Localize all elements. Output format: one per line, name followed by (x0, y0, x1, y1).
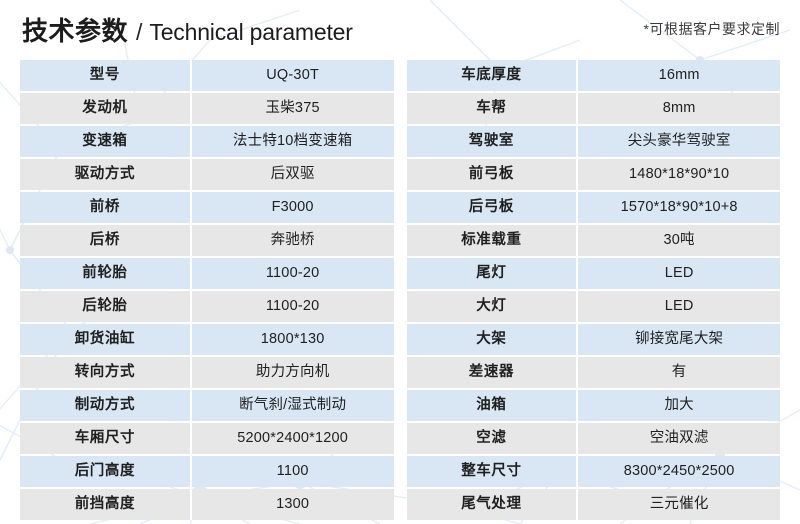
spec-value: 后双驱 (192, 159, 394, 190)
table-row: 制动方式断气刹/湿式制动 (20, 390, 394, 421)
spec-label: 前弓板 (407, 159, 579, 190)
spec-label: 油箱 (407, 390, 579, 421)
spec-value: 1300 (192, 489, 394, 520)
table-row: 整车尺寸8300*2450*2500 (407, 456, 781, 487)
spec-value: LED (578, 291, 780, 322)
spec-value: 8300*2450*2500 (578, 456, 780, 487)
table-row: 前弓板1480*18*90*10 (407, 159, 781, 190)
spec-value: UQ-30T (192, 60, 394, 91)
spec-value: 5200*2400*1200 (192, 423, 394, 454)
spec-value: 加大 (578, 390, 780, 421)
spec-sheet-page: 技术参数 / Technical parameter *可根据客户要求定制 型号… (0, 0, 800, 524)
spec-label: 差速器 (407, 357, 579, 388)
spec-value: 尖头豪华驾驶室 (578, 126, 780, 157)
page-header: 技术参数 / Technical parameter *可根据客户要求定制 (0, 0, 800, 58)
spec-value: 铆接宽尾大架 (578, 324, 780, 355)
spec-label: 前挡高度 (20, 489, 192, 520)
spec-value: 1480*18*90*10 (578, 159, 780, 190)
spec-label: 制动方式 (20, 390, 192, 421)
spec-label: 驾驶室 (407, 126, 579, 157)
spec-label: 车底厚度 (407, 60, 579, 91)
table-row: 大灯LED (407, 291, 781, 322)
spec-label: 前轮胎 (20, 258, 192, 289)
table-row: 大架铆接宽尾大架 (407, 324, 781, 355)
spec-value: 断气刹/湿式制动 (192, 390, 394, 421)
spec-label: 前桥 (20, 192, 192, 223)
spec-value: 1800*130 (192, 324, 394, 355)
page-title: 技术参数 / Technical parameter (0, 11, 353, 48)
table-row: 驱动方式后双驱 (20, 159, 394, 190)
spec-value: F3000 (192, 192, 394, 223)
table-row: 前挡高度1300 (20, 489, 394, 520)
table-row: 后轮胎1100-20 (20, 291, 394, 322)
table-row: 车底厚度16mm (407, 60, 781, 91)
spec-value: 1100 (192, 456, 394, 487)
spec-label: 大架 (407, 324, 579, 355)
spec-label: 空滤 (407, 423, 579, 454)
table-row: 转向方式助力方向机 (20, 357, 394, 388)
spec-value: 有 (578, 357, 780, 388)
table-row: 前桥F3000 (20, 192, 394, 223)
spec-value: 玉柴375 (192, 93, 394, 124)
spec-value: 1100-20 (192, 258, 394, 289)
spec-value: 助力方向机 (192, 357, 394, 388)
spec-value: 1100-20 (192, 291, 394, 322)
spec-value: 30吨 (578, 225, 780, 256)
table-row: 型号UQ-30T (20, 60, 394, 91)
spec-value: 16mm (578, 60, 780, 91)
table-row: 车帮8mm (407, 93, 781, 124)
spec-label: 后门高度 (20, 456, 192, 487)
spec-label: 尾灯 (407, 258, 579, 289)
spec-value: 8mm (578, 93, 780, 124)
spec-label: 后桥 (20, 225, 192, 256)
spec-label: 尾气处理 (407, 489, 579, 520)
spec-label: 转向方式 (20, 357, 192, 388)
table-row: 差速器有 (407, 357, 781, 388)
spec-value: 奔驰桥 (192, 225, 394, 256)
table-row: 后门高度1100 (20, 456, 394, 487)
table-row: 后桥奔驰桥 (20, 225, 394, 256)
spec-label: 发动机 (20, 93, 192, 124)
spec-value: 1570*18*90*10+8 (578, 192, 780, 223)
spec-value: LED (578, 258, 780, 289)
table-row: 尾灯LED (407, 258, 781, 289)
spec-label: 卸货油缸 (20, 324, 192, 355)
spec-label: 整车尺寸 (407, 456, 579, 487)
page-title-en: Technical parameter (149, 19, 352, 46)
spec-label: 大灯 (407, 291, 579, 322)
table-row: 驾驶室尖头豪华驾驶室 (407, 126, 781, 157)
spec-value: 法士特10档变速箱 (192, 126, 394, 157)
spec-value: 三元催化 (578, 489, 780, 520)
spec-label: 车帮 (407, 93, 579, 124)
spec-label: 驱动方式 (20, 159, 192, 190)
spec-label: 车厢尺寸 (20, 423, 192, 454)
table-row: 尾气处理三元催化 (407, 489, 781, 520)
table-row: 变速箱法士特10档变速箱 (20, 126, 394, 157)
table-row: 发动机玉柴375 (20, 93, 394, 124)
table-row: 标准载重30吨 (407, 225, 781, 256)
spec-label: 标准载重 (407, 225, 579, 256)
spec-label: 型号 (20, 60, 192, 91)
page-title-cn: 技术参数 (22, 11, 128, 48)
spec-table-left: 型号UQ-30T发动机玉柴375变速箱法士特10档变速箱驱动方式后双驱前桥F30… (20, 60, 394, 520)
table-row: 后弓板1570*18*90*10+8 (407, 192, 781, 223)
table-row: 卸货油缸1800*130 (20, 324, 394, 355)
page-title-separator: / (136, 19, 142, 46)
spec-label: 后弓板 (407, 192, 579, 223)
table-row: 车厢尺寸5200*2400*1200 (20, 423, 394, 454)
spec-value: 空油双滤 (578, 423, 780, 454)
customization-note: *可根据客户要求定制 (644, 19, 800, 39)
table-row: 前轮胎1100-20 (20, 258, 394, 289)
spec-table-right: 车底厚度16mm车帮8mm驾驶室尖头豪华驾驶室前弓板1480*18*90*10后… (407, 60, 781, 520)
spec-label: 后轮胎 (20, 291, 192, 322)
table-row: 空滤空油双滤 (407, 423, 781, 454)
spec-label: 变速箱 (20, 126, 192, 157)
spec-tables: 型号UQ-30T发动机玉柴375变速箱法士特10档变速箱驱动方式后双驱前桥F30… (0, 60, 800, 520)
table-row: 油箱加大 (407, 390, 781, 421)
